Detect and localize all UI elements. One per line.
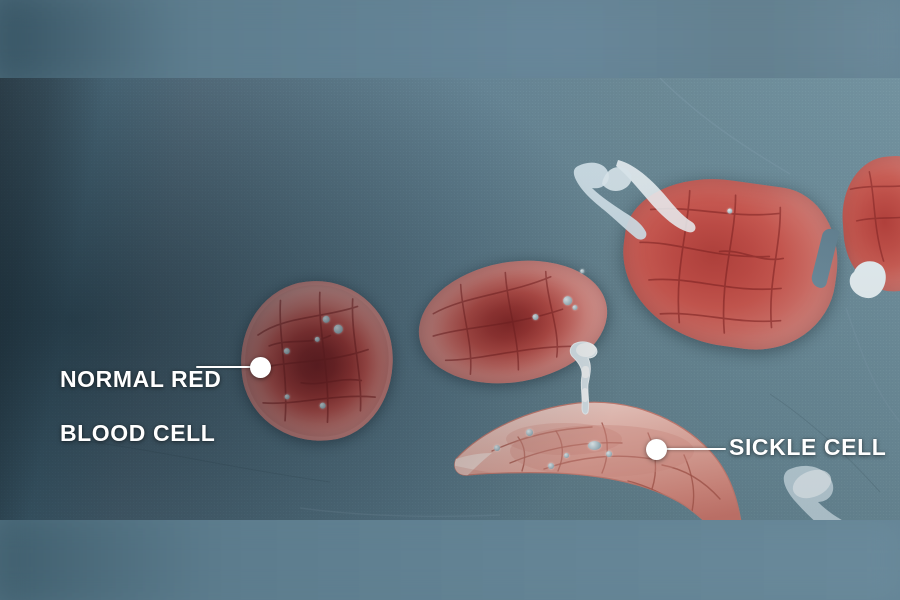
letterbox-blur-top [0, 0, 900, 78]
surface-particle [526, 429, 533, 436]
cell-fold-notch [810, 227, 840, 289]
cell-sickle [452, 393, 748, 520]
surface-particle [588, 441, 601, 450]
surface-particle [727, 208, 733, 214]
surface-particle [562, 295, 572, 305]
surface-particle [564, 453, 569, 458]
label-sickle-cell: SICKLE CELL [729, 434, 886, 461]
leader-line-sickle-cell [666, 448, 726, 450]
surface-particle [572, 305, 578, 311]
letterbox-blur-bottom [0, 520, 900, 600]
surface-particle [548, 463, 554, 469]
letterbox-band-bottom [0, 520, 900, 600]
surface-particle [494, 445, 500, 451]
micrograph-image: NORMAL RED BLOOD CELL SICKLE CELL [0, 78, 900, 520]
micrograph-figure: NORMAL RED BLOOD CELL SICKLE CELL [0, 0, 900, 600]
surface-particle [532, 314, 539, 321]
label-normal-line2: BLOOD CELL [60, 420, 216, 446]
label-normal-red-blood-cell: NORMAL RED BLOOD CELL [18, 339, 221, 474]
label-normal-line1: NORMAL RED [60, 366, 221, 392]
surface-particle [606, 451, 612, 457]
leader-dot-sickle-cell [646, 439, 667, 460]
leader-dot-normal-red-blood-cell [250, 357, 271, 378]
letterbox-band-top [0, 0, 900, 78]
